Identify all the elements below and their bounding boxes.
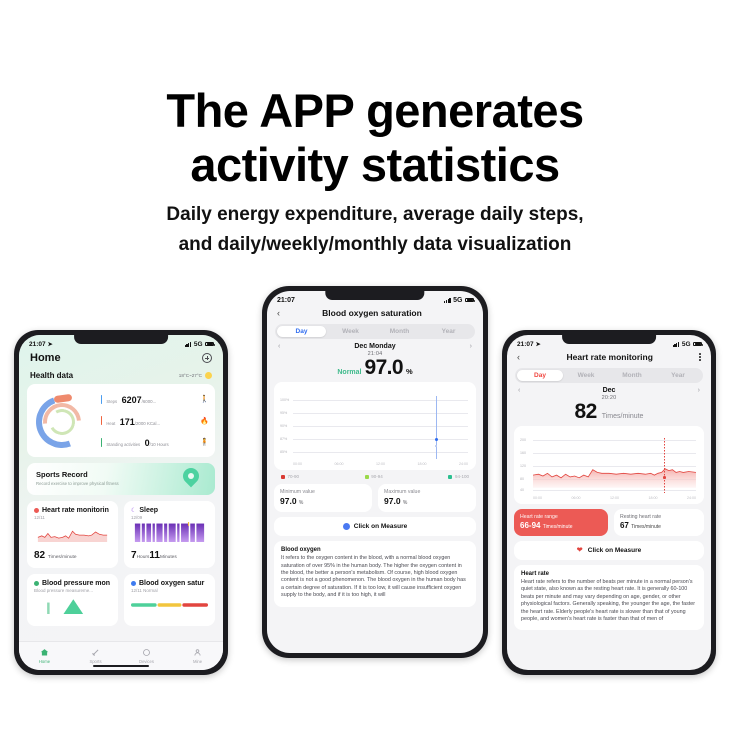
segment-month[interactable]: Month	[375, 326, 424, 337]
chart-current-point[interactable]	[663, 476, 666, 479]
card-title-sleep: Sleep	[139, 507, 158, 514]
app-bar: ‹ Blood oxygen saturation	[267, 306, 483, 324]
x-tick-2: 12:00	[610, 496, 619, 500]
chart-x-axis: 00:00 06:00 12:00 18:00 24:00	[293, 462, 468, 466]
measure-button[interactable]: Click on Measure	[274, 517, 476, 536]
home-icon	[19, 648, 70, 657]
info-title: Heart rate	[521, 571, 697, 577]
status-time: 21:07	[29, 341, 46, 348]
measure-button[interactable]: ❤ Click on Measure	[514, 541, 704, 560]
legend-label-low: 70-90	[288, 474, 300, 479]
network-label: 5G	[453, 297, 462, 304]
reading-value: 82	[575, 400, 597, 424]
card-value-heart-rate: 82 Times/minute	[34, 550, 111, 561]
resting-heart-rate-card: Resting heart rate 67 Times/minute	[614, 509, 704, 536]
add-icon[interactable]	[202, 353, 212, 363]
health-data-header: Health data 18°C~27°C	[19, 364, 223, 384]
reading-value: 97.0	[364, 356, 402, 380]
stat-bar-standing	[101, 438, 102, 447]
card-blood-pressure[interactable]: Blood pressure mon Blood pressure measur…	[27, 574, 118, 626]
tab-devices[interactable]: Devices	[121, 648, 172, 664]
heart-rate-chart: 200 160 120 80 40	[514, 426, 704, 504]
card-title-heart-rate: Heart rate monitorin	[42, 507, 109, 514]
chart-marker-line	[664, 438, 665, 493]
date-navigator: ‹ Dec ›	[507, 383, 711, 394]
maximum-value-label: Maximum value	[384, 489, 470, 495]
flame-icon: 🔥	[200, 417, 208, 425]
stat-label-steps: Steps	[106, 399, 117, 404]
heart-rate-line	[533, 438, 696, 488]
stat-value-standing: 0/10 Hours	[145, 438, 169, 448]
page-title: Home	[30, 352, 61, 364]
y-tick-4: 85%	[280, 450, 287, 454]
x-tick-1: 06:00	[572, 496, 581, 500]
battery-icon	[205, 342, 214, 347]
segment-week[interactable]: Week	[326, 326, 375, 337]
walk-icon: 🚶	[200, 395, 208, 403]
stat-label-heat: Heat	[106, 421, 115, 426]
network-label: 5G	[682, 341, 691, 348]
chart-data-point[interactable]	[435, 438, 438, 441]
signal-icon	[185, 342, 192, 347]
blood-oxygen-chart: 100% 95% 90% 87% 85% 00:00 06:00 1	[274, 382, 476, 470]
heart-rate-range-value: 66-94 Times/minute	[520, 521, 602, 530]
legend-item-mid: 90-94	[365, 474, 383, 479]
home-screen: 21:07 ➤ 5G Home Health data	[19, 335, 223, 670]
weather-widget: 18°C~27°C	[179, 372, 212, 379]
card-blood-oxygen[interactable]: Blood oxygen satur 12/11 Normal	[124, 574, 215, 626]
activity-rings	[34, 392, 96, 450]
subheadline-block: Daily energy expenditure, average daily …	[0, 200, 750, 260]
min-max-row: Minimum value 97.0 % Maximum value 97.0 …	[267, 479, 483, 512]
legend-label-high: 94-100	[455, 474, 469, 479]
stat-label-standing: Standing activities	[106, 442, 140, 447]
tab-sports[interactable]: Sports	[70, 648, 121, 664]
card-title-blood-oxygen: Blood oxygen satur	[139, 580, 204, 587]
battery-icon	[465, 298, 474, 303]
x-tick-1: 06:00	[335, 462, 344, 466]
stat-standing: Standing activities 0/10 Hours 🧍	[101, 433, 208, 451]
signal-icon	[444, 298, 451, 303]
chart-data-point-secondary	[435, 445, 437, 447]
heart-icon	[34, 508, 39, 513]
maximum-value: 97.0 %	[384, 496, 470, 506]
date-next-button[interactable]: ›	[698, 387, 700, 394]
page-title: Heart rate monitoring	[520, 352, 699, 362]
period-segmented-control[interactable]: Day Week Month Year	[275, 324, 475, 339]
promo-page: The APP generates activity statistics Da…	[0, 0, 750, 750]
y-tick-0: 100%	[280, 398, 289, 402]
card-value-sleep: 7Hours11Minutes	[131, 550, 208, 561]
date-label: Dec	[603, 387, 616, 394]
status-time: 21:07	[277, 297, 295, 304]
reading-status: Normal	[337, 369, 361, 376]
heart-rate-sparkline	[34, 522, 111, 542]
blood-pressure-chart	[34, 596, 111, 614]
legend-swatch-high	[448, 475, 452, 479]
phone-notch	[562, 335, 656, 344]
measure-button-label: Click on Measure	[354, 523, 407, 530]
stat-steps: Steps 6207/6000... 🚶	[101, 390, 208, 408]
mini-card-grid: Heart rate monitorin 12/11 82 Times/minu…	[27, 501, 215, 626]
x-tick-2: 12:00	[376, 462, 385, 466]
chart-plot-area: 100% 95% 90% 87% 85% 00:00 06:00 1	[280, 396, 470, 466]
stand-icon: 🧍	[200, 438, 208, 446]
battery-icon	[693, 342, 702, 347]
sports-icon	[70, 648, 121, 657]
location-arrow-icon: ➤	[536, 341, 541, 348]
stat-heat: Heat 171/2000 KCal... 🔥	[101, 412, 208, 430]
more-vertical-icon[interactable]	[699, 353, 701, 360]
stat-value-heat: 171/2000 KCal...	[120, 417, 160, 427]
card-sub-blood-oxygen: 12/11 Normal	[131, 588, 208, 593]
page-title: Blood oxygen saturation	[280, 308, 464, 318]
stat-bar-heat	[101, 416, 102, 425]
chart-x-axis: 00:00 06:00 12:00 18:00 24:00	[533, 496, 696, 500]
signal-icon	[673, 342, 680, 347]
tab-home[interactable]: Home	[19, 648, 70, 664]
headline-line-2: activity statistics	[0, 138, 750, 192]
stat-bar-steps	[101, 395, 102, 404]
legend-swatch-mid	[365, 475, 369, 479]
maximum-value-card: Maximum value 97.0 %	[378, 484, 476, 512]
x-tick-3: 18:00	[649, 496, 658, 500]
x-tick-4: 24:00	[459, 462, 468, 466]
info-card-blood-oxygen: Blood oxygen It refers to the oxygen con…	[274, 541, 476, 606]
health-data-label: Health data	[30, 371, 73, 380]
date-navigator: ‹ Dec Monday ›	[267, 339, 483, 350]
subheadline-line-1: Daily energy expenditure, average daily …	[0, 200, 750, 230]
reading-unit: Times/minute	[602, 413, 644, 420]
heart-rate-range-label: Heart rate range	[520, 514, 602, 520]
x-tick-0: 00:00	[533, 496, 542, 500]
card-heart-rate[interactable]: Heart rate monitorin 12/11 82 Times/minu…	[27, 501, 118, 568]
phone-mockup-home: 21:07 ➤ 5G Home Health data	[14, 330, 228, 675]
date-prev-button[interactable]: ‹	[278, 343, 280, 350]
segment-month[interactable]: Month	[609, 370, 655, 381]
segment-day[interactable]: Day	[517, 370, 563, 381]
minimum-value-card: Minimum value 97.0 %	[274, 484, 372, 512]
reading-unit: %	[406, 367, 413, 376]
card-sleep[interactable]: ☾ Sleep 12/09	[124, 501, 215, 568]
blood-oxygen-gauge	[131, 598, 208, 612]
legend-item-low: 70-90	[281, 474, 299, 479]
phone-notch	[74, 335, 168, 344]
resting-heart-rate-value: 67 Times/minute	[620, 521, 698, 530]
segment-year[interactable]: Year	[424, 326, 473, 337]
card-sub-blood-pressure: Blood pressure measureme...	[34, 588, 111, 593]
network-label: 5G	[194, 341, 203, 348]
drop-icon	[34, 581, 39, 586]
heart-rate-range-card: Heart rate range 66-94 Times/minute	[514, 509, 608, 536]
card-title-blood-pressure: Blood pressure mon	[42, 580, 110, 587]
measure-icon	[343, 523, 350, 530]
resting-heart-rate-label: Resting heart rate	[620, 514, 698, 520]
legend-label-mid: 90-94	[371, 474, 383, 479]
date-prev-button[interactable]: ‹	[518, 387, 520, 394]
x-tick-0: 00:00	[293, 462, 302, 466]
heart-icon: ❤	[577, 547, 584, 554]
devices-icon	[121, 648, 172, 657]
home-indicator	[93, 665, 149, 667]
legend-item-high: 94-100	[448, 474, 469, 479]
segment-week[interactable]: Week	[563, 370, 609, 381]
chart-legend: 70-90 90-94 94-100	[267, 470, 483, 479]
page-title-row: Home	[19, 350, 223, 364]
stat-value-steps: 6207/6000...	[122, 395, 157, 405]
y-tick-2: 120	[520, 464, 526, 468]
sports-record-title: Sports Record	[36, 470, 206, 479]
blood-oxygen-screen: 21:07 5G ‹ Blood oxygen saturation Day W…	[267, 291, 483, 653]
stat-list: Steps 6207/6000... 🚶 Heat 171/2000 KCal.…	[101, 390, 208, 451]
chart-marker-line	[436, 396, 437, 459]
chart-plot-area: 200 160 120 80 40	[520, 438, 698, 500]
x-tick-4: 24:00	[687, 496, 696, 500]
segment-year[interactable]: Year	[655, 370, 701, 381]
phone-notch	[325, 291, 424, 300]
y-tick-1: 95%	[280, 411, 287, 415]
headline-line-1: The APP generates	[0, 84, 750, 138]
current-reading: 20:20 82 Times/minute	[507, 394, 711, 424]
y-tick-3: 80	[520, 477, 524, 481]
card-date-sleep: 12/09	[131, 515, 208, 520]
x-tick-3: 18:00	[418, 462, 427, 466]
info-title: Blood oxygen	[281, 547, 469, 553]
minimum-value: 97.0 %	[280, 496, 366, 506]
minimum-value-label: Minimum value	[280, 489, 366, 495]
period-segmented-control[interactable]: Day Week Month Year	[515, 368, 703, 383]
info-body: It refers to the oxygen content in the b…	[281, 555, 469, 599]
heart-rate-summary-row: Heart rate range 66-94 Times/minute Rest…	[507, 504, 711, 536]
current-reading: 21:04 Normal 97.0 %	[267, 350, 483, 380]
app-bar: ‹ Heart rate monitoring	[507, 350, 711, 368]
card-date-heart-rate: 12/11	[34, 515, 111, 520]
y-tick-3: 87%	[280, 437, 287, 441]
y-tick-0: 200	[520, 438, 526, 442]
location-arrow-icon: ➤	[48, 341, 53, 348]
measure-button-label: Click on Measure	[588, 547, 641, 554]
sports-record-card[interactable]: Sports Record Record exercise to improve…	[27, 463, 215, 495]
status-time: 21:07	[517, 341, 534, 348]
date-next-button[interactable]: ›	[470, 343, 472, 350]
info-body: Heart rate refers to the number of beats…	[521, 579, 697, 623]
sports-record-subtitle: Record exercise to improve physical fitn…	[36, 481, 206, 486]
weather-temperature: 18°C~27°C	[179, 373, 202, 378]
heart-rate-screen: 21:07 ➤ 5G ‹ Heart rate monitoring Day W…	[507, 335, 711, 670]
phone-mockup-heart-rate: 21:07 ➤ 5G ‹ Heart rate monitoring Day W…	[502, 330, 716, 675]
activity-rings-card[interactable]: Steps 6207/6000... 🚶 Heat 171/2000 KCal.…	[27, 384, 215, 457]
tab-mine[interactable]: Mine	[172, 648, 223, 664]
o2-icon	[131, 581, 136, 586]
person-icon	[172, 648, 223, 657]
sun-icon	[205, 372, 212, 379]
subheadline-line-2: and daily/weekly/monthly data visualizat…	[0, 230, 750, 260]
segment-day[interactable]: Day	[277, 326, 326, 337]
headline-block: The APP generates activity statistics	[0, 84, 750, 192]
info-card-heart-rate: Heart rate Heart rate refers to the numb…	[514, 565, 704, 630]
moon-icon: ☾	[131, 507, 136, 514]
y-tick-1: 160	[520, 451, 526, 455]
tab-label-sports: Sports	[70, 659, 121, 664]
legend-swatch-low	[281, 475, 285, 479]
y-tick-4: 40	[520, 488, 524, 492]
sleep-bar-chart	[131, 522, 208, 542]
y-tick-2: 90%	[280, 424, 287, 428]
tab-label-devices: Devices	[121, 659, 172, 664]
date-label: Dec Monday	[354, 343, 395, 350]
tab-label-home: Home	[19, 659, 70, 664]
phone-mockup-blood-oxygen: 21:07 5G ‹ Blood oxygen saturation Day W…	[262, 286, 488, 658]
tab-label-mine: Mine	[172, 659, 223, 664]
